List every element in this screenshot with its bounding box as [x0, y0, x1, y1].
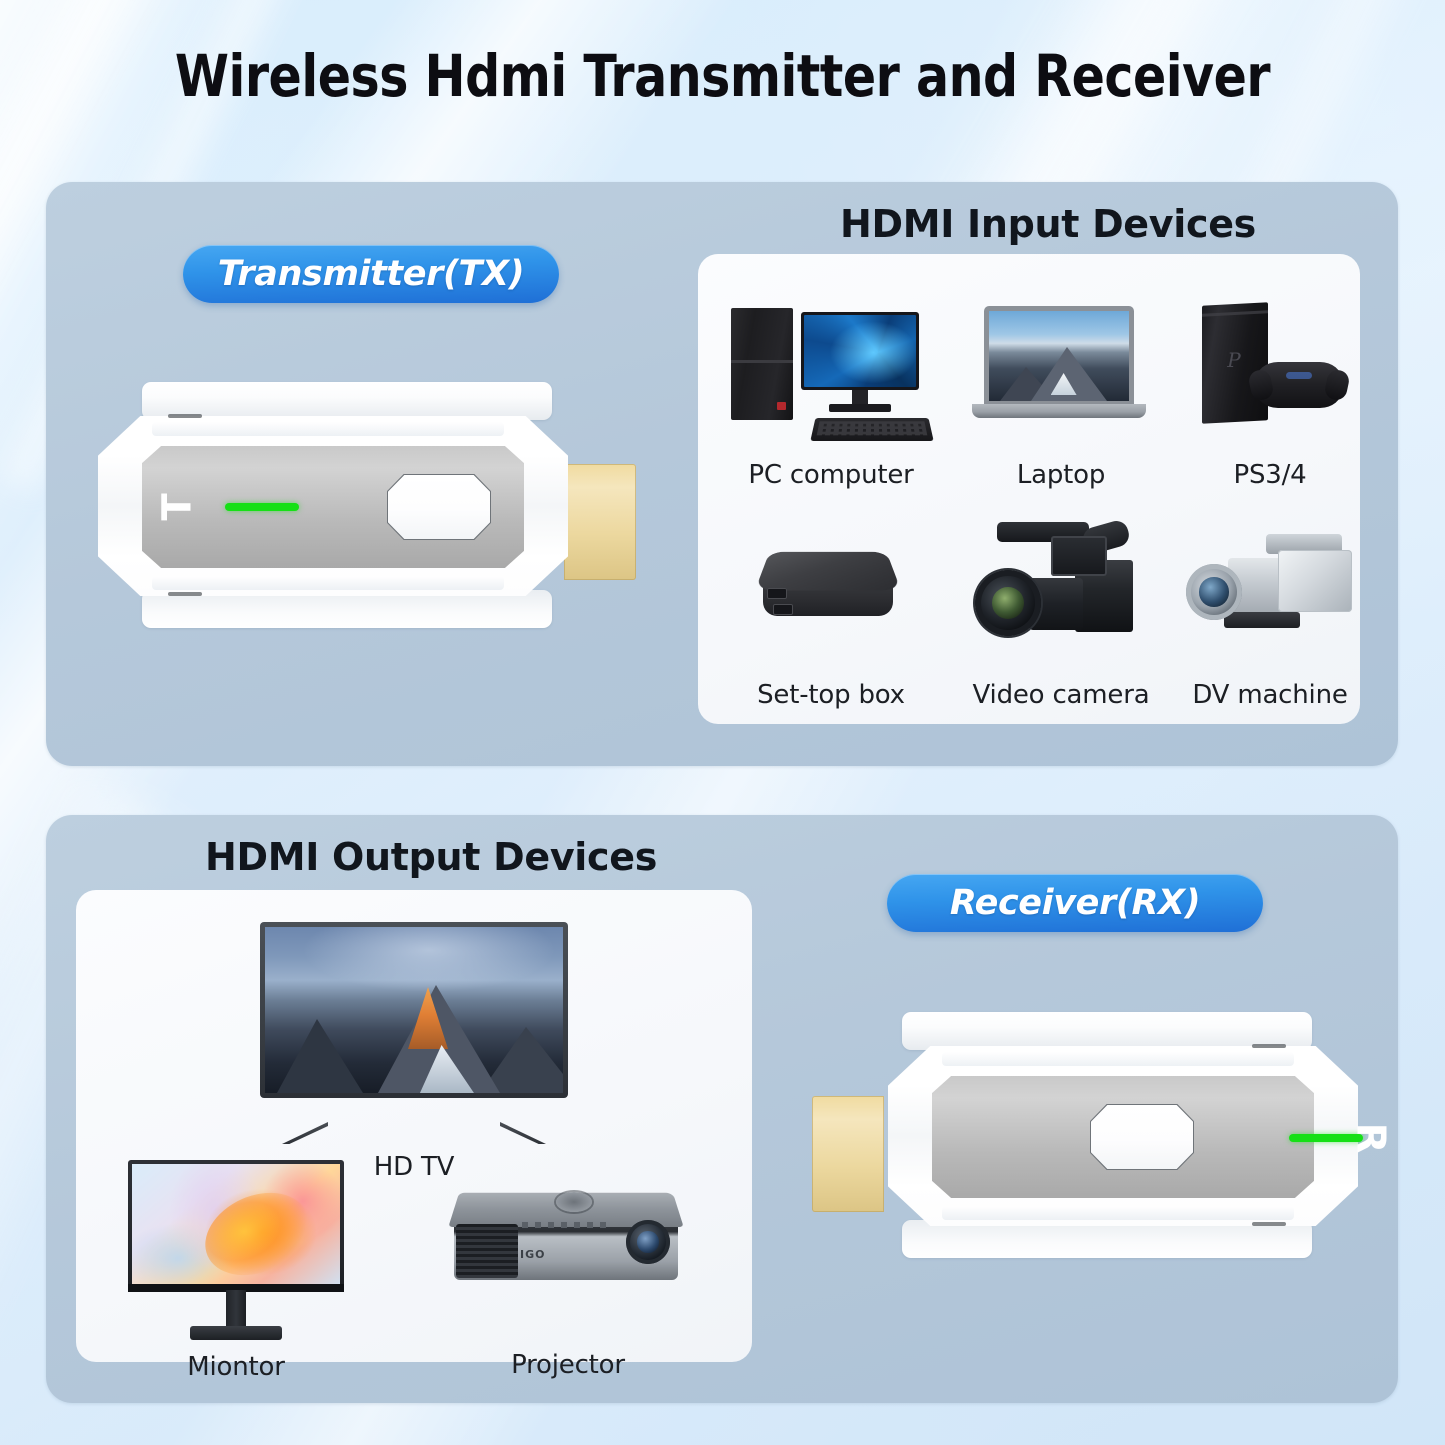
device-notch	[1252, 1222, 1286, 1226]
monitor-neck	[226, 1290, 246, 1330]
set-top-box-port	[767, 588, 787, 599]
output-device-hd-tv: HD TV	[260, 922, 568, 1182]
input-device-label: DV machine	[1148, 680, 1392, 710]
output-device-label: Projector	[448, 1350, 688, 1380]
device-mark-t: T	[158, 493, 198, 520]
device-shell-top	[902, 1012, 1312, 1050]
receiver-badge: Receiver(RX)	[887, 874, 1263, 932]
output-device-monitor: Miontor	[128, 1160, 344, 1382]
desktop-computer-icon	[725, 296, 937, 448]
pc-monitor	[801, 312, 919, 390]
device-notch	[168, 414, 202, 418]
transmitter-badge: Transmitter(TX)	[183, 245, 559, 303]
console-logo: P	[1226, 348, 1242, 370]
projector-focus-dial	[556, 1192, 592, 1212]
output-section-heading: HDMI Output Devices	[205, 835, 657, 879]
monitor-base	[190, 1326, 282, 1340]
pc-tower-badge	[777, 402, 786, 410]
input-device-pc-computer: PC computer	[700, 296, 962, 490]
hdmi-connector-icon	[812, 1096, 884, 1212]
pc-monitor-base	[829, 404, 891, 412]
set-top-box-port	[773, 604, 793, 615]
device-mark-r: R	[1350, 1123, 1390, 1154]
camcorder-grip	[1224, 612, 1300, 628]
monitor-screen	[132, 1164, 340, 1288]
game-console-icon: P	[1180, 296, 1360, 448]
controller-lightbar	[1286, 372, 1312, 379]
projector-lens	[626, 1220, 670, 1264]
game-controller	[1256, 362, 1342, 408]
pc-keyboard	[810, 418, 933, 441]
dv-camcorder-icon	[1180, 516, 1360, 668]
input-device-ps34: P PS3/4	[1148, 296, 1392, 490]
tv-frame	[260, 922, 568, 1098]
device-bevel	[942, 1052, 1294, 1066]
status-led	[225, 503, 299, 511]
input-section-heading: HDMI Input Devices	[840, 202, 1256, 246]
camcorder-lens	[1186, 564, 1242, 620]
monitor-frame	[128, 1160, 344, 1292]
tv-leg	[500, 1122, 546, 1144]
pc-monitor-screen	[804, 315, 916, 387]
monitor-icon	[128, 1160, 344, 1342]
laptop-screen	[989, 311, 1129, 401]
monitor-wallpaper-swirl	[192, 1178, 322, 1288]
video-camera-icon	[971, 516, 1151, 668]
projector-buttons	[522, 1222, 608, 1228]
projector-icon: IGO	[448, 1178, 688, 1342]
device-bevel	[152, 576, 504, 590]
input-device-set-top-box: Set-top box	[700, 516, 962, 710]
input-device-label: PC computer	[700, 460, 962, 490]
page-title: Wireless Hdmi Transmitter and Receiver	[43, 42, 1401, 110]
tv-leg	[282, 1122, 328, 1144]
set-top-box-lid	[755, 552, 901, 591]
device-notch	[1252, 1044, 1286, 1048]
television-icon	[260, 922, 568, 1122]
laptop-base	[972, 404, 1146, 418]
transmitter-device: T	[98, 374, 654, 636]
projector-vent	[456, 1224, 518, 1278]
input-device-dv-machine: DV machine	[1148, 516, 1392, 710]
pair-button[interactable]	[388, 475, 490, 539]
projector-logo: IGO	[520, 1248, 545, 1261]
infographic-canvas: Wireless Hdmi Transmitter and Receiver T…	[0, 0, 1445, 1445]
device-bevel	[152, 422, 504, 436]
receiver-device: R	[802, 1004, 1358, 1266]
tv-wallpaper-mountain	[277, 1019, 363, 1093]
device-bevel	[942, 1206, 1294, 1220]
camera-lens	[975, 570, 1041, 636]
tv-screen	[265, 927, 563, 1093]
output-device-projector: IGO Projector	[448, 1178, 688, 1380]
hdmi-connector-icon	[564, 464, 636, 580]
laptop-icon	[966, 296, 1156, 448]
output-device-label: Miontor	[128, 1352, 344, 1382]
pair-button[interactable]	[1091, 1105, 1193, 1169]
camera-lcd-screen	[1051, 536, 1107, 576]
device-notch	[168, 592, 202, 596]
camcorder-side-panel	[1278, 550, 1352, 612]
input-device-label: Set-top box	[700, 680, 962, 710]
laptop-lid	[984, 306, 1134, 406]
input-device-label: PS3/4	[1148, 460, 1392, 490]
device-shell-top	[142, 382, 552, 420]
set-top-box-icon	[743, 516, 919, 668]
